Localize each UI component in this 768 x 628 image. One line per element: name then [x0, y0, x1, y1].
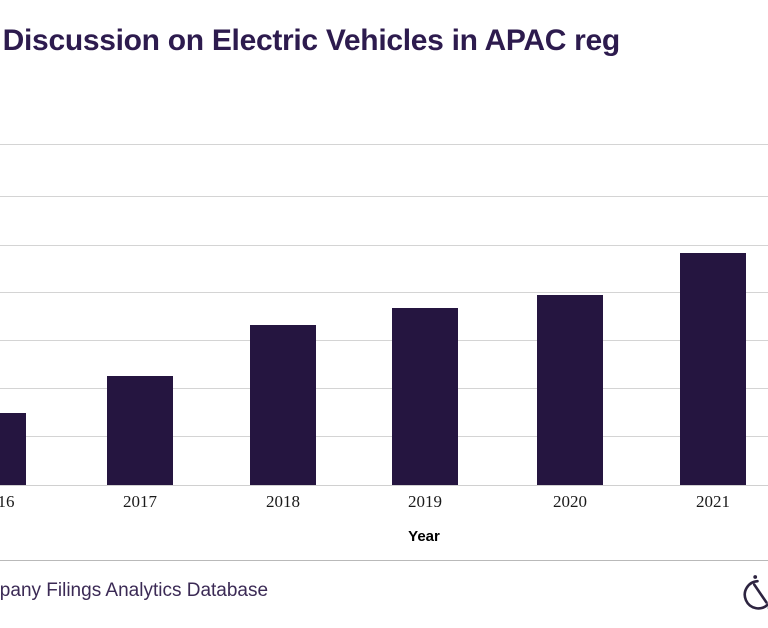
bar-2016[interactable]: [0, 413, 26, 485]
x-tick-label-2020: 2020: [540, 492, 600, 512]
x-tick-label-2016: 16: [0, 492, 36, 512]
globaldata-circle-logo-icon: [733, 572, 768, 618]
chart-title-line-1: panies’ Discussion on Electric Vehicles …: [0, 20, 768, 62]
x-axis-title: Year: [0, 528, 768, 545]
bar-2018[interactable]: [250, 325, 316, 485]
bar-2019[interactable]: [392, 308, 458, 485]
x-tick-label-2017: 2017: [110, 492, 170, 512]
bar-2017[interactable]: [107, 376, 173, 485]
gridline: [0, 196, 768, 197]
x-tick-label-2019: 2019: [395, 492, 455, 512]
gridline: [0, 245, 768, 246]
gridline: [0, 292, 768, 293]
x-tick-label-2018: 2018: [253, 492, 313, 512]
gridline: [0, 144, 768, 145]
gridline: [0, 340, 768, 341]
source-caption: ata Company Filings Analytics Database: [0, 580, 268, 602]
chart-title: panies’ Discussion on Electric Vehicles …: [0, 20, 768, 104]
x-axis-baseline: [0, 485, 768, 486]
x-tick-label-2021: 2021: [683, 492, 743, 512]
x-axis-labels: 16 2017 2018 2019 2020 2021: [0, 492, 768, 522]
footer-divider: [0, 560, 768, 561]
bar-2020[interactable]: [537, 295, 603, 485]
chart-title-line-2: - 2022: [0, 62, 768, 104]
chart-plot-area: [0, 140, 768, 486]
bar-2021[interactable]: [680, 253, 746, 485]
